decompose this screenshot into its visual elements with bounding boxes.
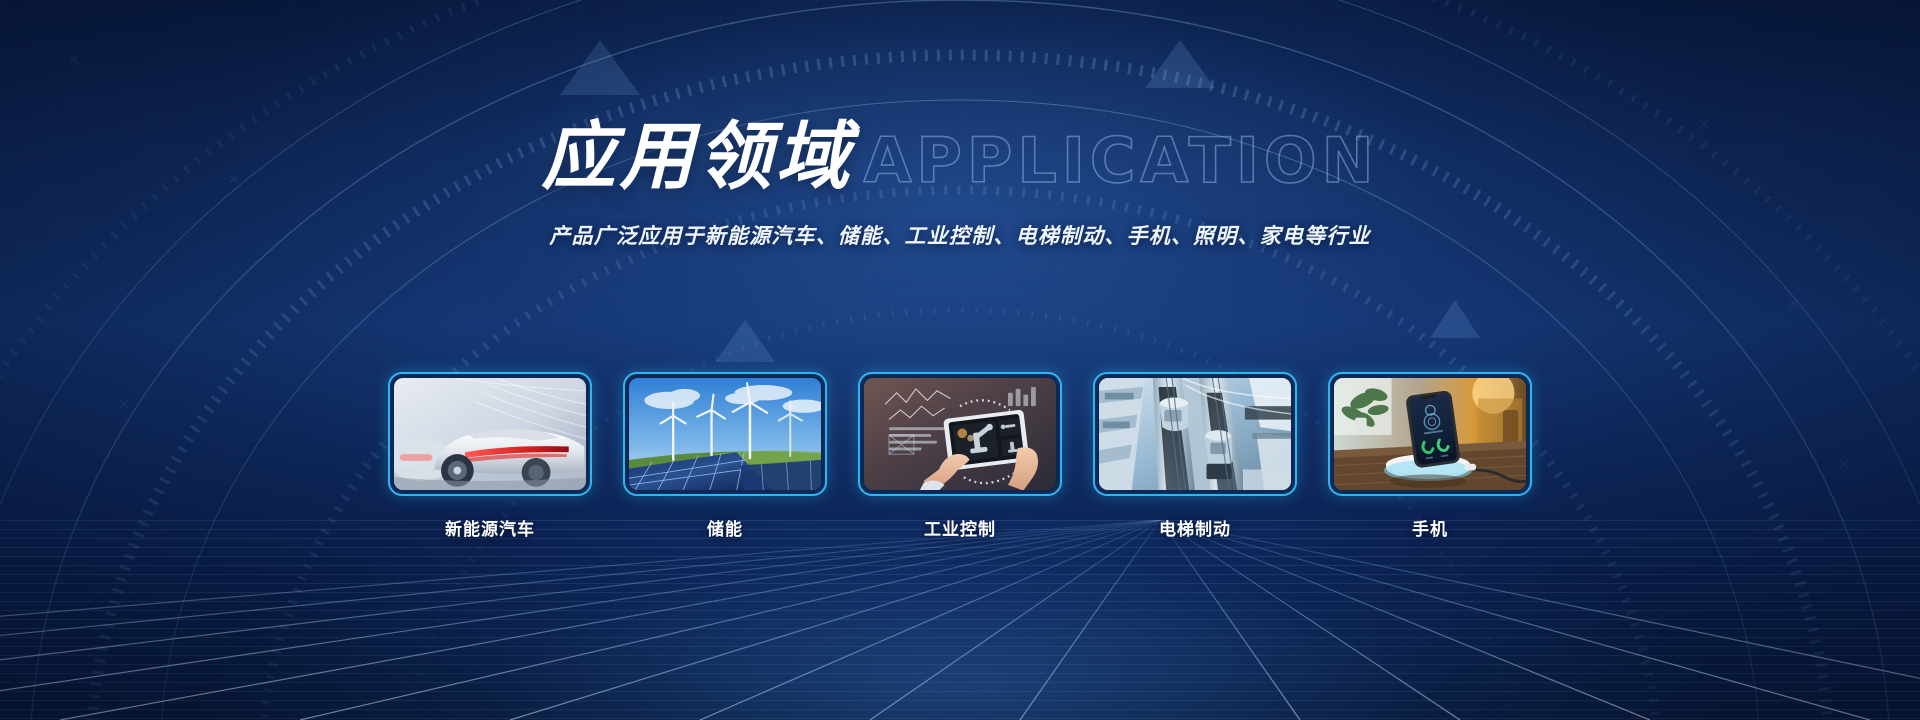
background-perspective-grid (0, 520, 1920, 720)
solar-panels-wind-turbines-photo (629, 378, 821, 490)
card-label: 储能 (623, 515, 827, 540)
application-card-industrial-control[interactable]: 工业控制 (858, 372, 1062, 540)
background-vignette (0, 0, 1920, 720)
background-dot-grid (0, 0, 1920, 720)
application-card-energy-storage[interactable]: 储能 (623, 372, 827, 540)
card-label: 手机 (1328, 515, 1532, 540)
card-frame[interactable] (1328, 372, 1532, 496)
hands-holding-tablet-industrial-robot-hud-photo (864, 378, 1056, 490)
page-subtitle: 产品广泛应用于新能源汽车、储能、工业控制、电梯制动、手机、照明、家电等行业 (0, 220, 1920, 250)
card-frame[interactable] (623, 372, 827, 496)
card-frame[interactable] (388, 372, 592, 496)
banner-header: 应用领域 APPLICATION 产品广泛应用于新能源汽车、储能、工业控制、电梯… (0, 120, 1920, 250)
glass-elevators-atrium-photo (1099, 378, 1291, 490)
application-card-mobile-phone[interactable]: 手机 (1328, 372, 1532, 540)
card-label: 新能源汽车 (388, 515, 592, 540)
page-title-english: APPLICATION (863, 130, 1378, 192)
card-frame[interactable] (858, 372, 1062, 496)
card-frame[interactable] (1093, 372, 1297, 496)
background-gradient (0, 0, 1920, 720)
page-title: 应用领域 (541, 120, 853, 194)
title-row: 应用领域 APPLICATION (541, 120, 1378, 194)
electric-sports-car-photo (394, 378, 586, 490)
application-card-list: 新能源汽车 (0, 372, 1920, 540)
card-label: 电梯制动 (1093, 515, 1297, 540)
application-card-new-energy-vehicle[interactable]: 新能源汽车 (388, 372, 592, 540)
application-banner: 应用领域 APPLICATION 产品广泛应用于新能源汽车、储能、工业控制、电梯… (0, 0, 1920, 720)
application-card-elevator-braking[interactable]: 电梯制动 (1093, 372, 1297, 540)
smartphone-wireless-charging-stand-photo (1334, 378, 1526, 490)
background-tech-arcs (0, 0, 1920, 720)
card-label: 工业控制 (858, 515, 1062, 540)
